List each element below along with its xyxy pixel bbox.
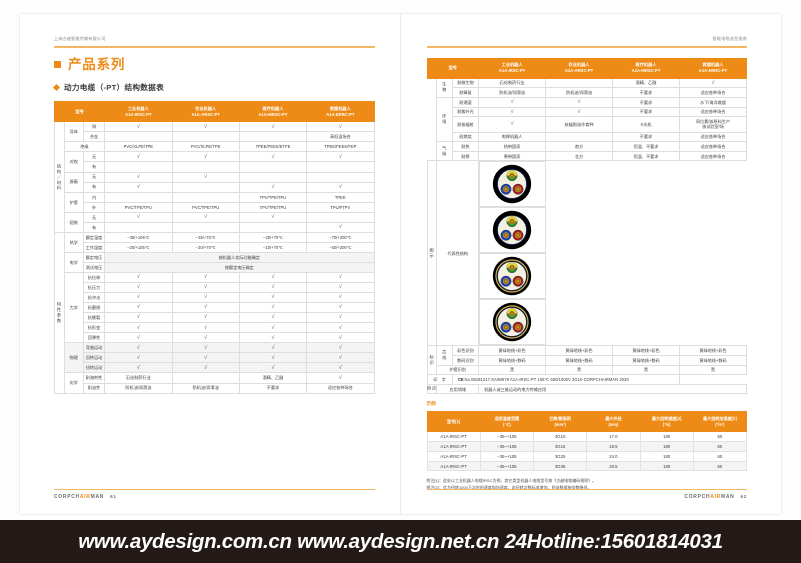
value-cell-4: √ xyxy=(307,323,374,333)
check-icon: √ xyxy=(204,355,207,361)
table-row: 抗冲击√√√√ xyxy=(55,293,375,303)
sub-label: 合金 xyxy=(83,132,104,142)
value-cell-3: √ xyxy=(239,152,306,162)
right-top-rule xyxy=(427,46,748,48)
table-row: 抗磨损√√√√ xyxy=(55,303,375,313)
value-cell-4: √ xyxy=(307,343,374,353)
value-cell-2: −20/+70℃ xyxy=(172,242,239,252)
jacket-marking-value-4: 黑 xyxy=(679,365,746,375)
check-icon: √ xyxy=(137,294,140,300)
example-cell-4: 24.0 xyxy=(587,451,640,461)
value-cell-2: 北方 xyxy=(546,151,613,161)
value-cell-3: √ xyxy=(239,272,306,282)
group-label: 对绞 xyxy=(64,152,83,172)
table-row: 工作温度−20/+105℃−20/+70℃−10/+70℃−50/+200℃ xyxy=(55,242,375,252)
group-label: 力学 xyxy=(64,272,83,342)
value-cell-1: 石化制药行业 xyxy=(479,78,546,88)
marking-value-1: 黄绿地线+数码 xyxy=(479,356,546,366)
section-label-application: 应用 xyxy=(427,384,437,394)
table-row: 电学额定电压按机器人实际功能确定 xyxy=(55,252,375,262)
print-label: 印 字 xyxy=(427,375,452,385)
example-cell-5: 180 xyxy=(640,442,693,452)
value-cell-2: √ xyxy=(172,353,239,363)
marking-sub-label: 数码识别 xyxy=(452,356,478,366)
merged-value: 按额定电压确定 xyxy=(105,262,374,272)
table-row: 耐核辐射√核辐照选作育种X光机同位素/核原料生产核试验室/场 xyxy=(427,117,747,133)
left-page-footer: CORPCHAIRMAN 61 xyxy=(54,489,375,500)
check-icon: √ xyxy=(339,355,342,361)
example-col-header-1: 型号[1] xyxy=(427,412,480,432)
section-label-structure: 结构／材料 xyxy=(55,122,65,233)
example-cell-5: 180 xyxy=(640,461,693,471)
application-label: 应用领域 xyxy=(437,384,479,394)
right-brand-mark: CORPCHAIRMAN xyxy=(684,494,734,500)
footnote-1: 附注[1]：此处以工业机器人电缆IRSC为例，其它类型机器人电缆型号按《古越电缆… xyxy=(427,478,748,485)
value-cell-4 xyxy=(307,212,374,222)
value-cell-2: PVC/XLPE/TPE xyxy=(172,142,239,152)
value-cell-3: 不要求 xyxy=(239,383,306,393)
sub-label: 抗撕裂 xyxy=(83,313,104,323)
check-icon: √ xyxy=(339,294,342,300)
example-cell-6: 60 xyxy=(693,432,746,442)
check-icon: √ xyxy=(204,174,207,180)
left-table-header-row: 型号工业机器人A1A-IRSC-PT农业机器人A1A-ARSC-PT医疗机器人A… xyxy=(55,102,375,122)
right-page-number: 62 xyxy=(740,494,747,499)
example-cell-6: 60 xyxy=(693,451,746,461)
check-icon: √ xyxy=(271,345,274,351)
example-cell-6: 60 xyxy=(693,442,746,452)
structure-data-table: 型号工业机器人A1A-IRSC-PT农业机器人A1A-ARSC-PT医疗机器人A… xyxy=(54,101,375,393)
check-icon: √ xyxy=(204,294,207,300)
example-table-head: 型号[1]适用温度范围(℃)芯数/截面积(mm²)最大外径(mm)最大扭转速度[… xyxy=(427,412,747,432)
jacket-marking-value-2: 黑 xyxy=(546,365,613,375)
sub-label: 工作温度 xyxy=(83,242,104,252)
marking-value-1: 黄绿地线+彩色 xyxy=(479,346,546,356)
value-cell-1: 防机油/润滑油 xyxy=(105,383,172,393)
example-cell-3: 3G35 xyxy=(534,461,587,471)
check-icon: √ xyxy=(204,274,207,280)
marking-value-2: 黄绿地线+彩色 xyxy=(546,346,613,356)
check-icon: √ xyxy=(271,294,274,300)
check-icon: √ xyxy=(137,184,140,190)
example-cell-1: A1A-IRSC-PT xyxy=(427,451,480,461)
value-cell-1 xyxy=(105,192,172,202)
value-cell-4: √ xyxy=(307,303,374,313)
left-running-head: 上海古越智能传输有限公司 xyxy=(54,36,375,44)
value-cell-1: √ xyxy=(479,107,546,117)
value-cell-2 xyxy=(172,182,239,192)
value-cell-2 xyxy=(546,78,613,88)
promo-banner: www.aydesign.com.cn www.aydesign.net.cn … xyxy=(0,520,801,563)
environment-data-table: 型号工业机器人A1A-IRSC-PT农业机器人A1A-ARSC-PT医疗机器人A… xyxy=(427,58,748,395)
sub-label: 额定温度 xyxy=(83,232,104,242)
table-row: 结构／材料导体铜√√√√ xyxy=(55,122,375,132)
right-table-head: 型号工业机器人A1A-IRSC-PT农业机器人A1A-ARSC-PT医疗机器人A… xyxy=(427,58,747,78)
example-cell-5: 180 xyxy=(640,451,693,461)
jacket-marking-value-1: 黑 xyxy=(479,365,546,375)
example-col-header-4: 最大外径(mm) xyxy=(587,412,640,432)
check-icon: √ xyxy=(204,124,207,130)
col-header-3: 医疗机器人A1A-MRSC-PT xyxy=(239,102,306,122)
check-icon: √ xyxy=(339,325,342,331)
value-cell-2 xyxy=(172,192,239,202)
value-cell-2: 防机油/润滑油 xyxy=(546,88,613,98)
example-col-header-2: 适用温度范围(℃) xyxy=(480,412,533,432)
value-cell-2: √ xyxy=(172,122,239,132)
value-cell-3: √ xyxy=(239,182,306,192)
section-label-illustration: 图示 xyxy=(427,161,437,346)
example-col-header-6: 最大扭转加速度[2](°/s²) xyxy=(693,412,746,432)
left-table-head: 型号工业机器人A1A-IRSC-PT农业机器人A1A-ARSC-PT医疗机器人A… xyxy=(55,102,375,122)
sub-label: 回弹性 xyxy=(83,333,104,343)
table-row: 护套内TPV/TPE/TPUTPEE xyxy=(55,192,375,202)
group-label: 热学 xyxy=(64,232,83,252)
group-label: 化学 xyxy=(64,373,83,393)
value-cell-1: −20/+105℃ xyxy=(105,242,172,252)
sub-label: 有 xyxy=(83,182,104,192)
value-cell-3 xyxy=(239,162,306,172)
example-spec-table: 型号[1]适用温度范围(℃)芯数/截面积(mm²)最大外径(mm)最大扭转速度[… xyxy=(427,411,748,471)
value-cell-1: PVC/TPE/TPU xyxy=(105,202,172,212)
sub-label: 耐油性 xyxy=(83,383,104,393)
table-row: 特性参数热学额定温度−35/+105℃−35/+70℃−20/+70℃−70/+… xyxy=(55,232,375,242)
value-cell-3: 不要求 xyxy=(613,132,680,142)
value-cell-3: √ xyxy=(239,353,306,363)
sub-label: 耐寒 xyxy=(452,151,478,161)
table-row: 化学耐溶剂性石化制药行业酒精、乙醚√ xyxy=(55,373,375,383)
sub-label: 抗拉伸 xyxy=(83,272,104,282)
print-value-cell: CE No.08191217.SAIW078 A1A-IRSC-PT 105℃ … xyxy=(452,375,679,385)
value-cell-1: √ xyxy=(105,303,172,313)
check-icon: √ xyxy=(339,224,342,230)
check-icon: √ xyxy=(204,154,207,160)
value-cell-1: √ xyxy=(105,283,172,293)
check-icon: √ xyxy=(204,325,207,331)
value-cell-4: 适应各种场合 xyxy=(679,142,746,152)
value-cell-2: 防机油/润滑油 xyxy=(172,383,239,393)
table-row: 外PVC/TPE/TPUPVC/TPE/TPUTPV/TPE/TPUTPU/FT… xyxy=(55,202,375,212)
value-cell-3: √ xyxy=(239,212,306,222)
value-cell-2: −35/+70℃ xyxy=(172,232,239,242)
example-row: A1A-IRSC-PT−35~+1053G1619.518060 xyxy=(427,442,747,452)
value-cell-3: 恒温、不要求 xyxy=(613,151,680,161)
col-header-2: 农业机器人A1A-ARSC-PT xyxy=(172,102,239,122)
sub-label: 耐热 xyxy=(452,142,478,152)
left-page: 上海古越智能传输有限公司 产品系列 动力电缆（-PT）结构数据表 型号工业机器人… xyxy=(20,14,401,514)
value-cell-3: 恒温、不要求 xyxy=(613,142,680,152)
value-cell-4: 适应各种场合 xyxy=(679,132,746,142)
col-header-model: 型号 xyxy=(55,102,105,122)
check-icon: √ xyxy=(137,325,140,331)
table-row: 测试电压按额定电压确定 xyxy=(55,262,375,272)
check-icon: √ xyxy=(511,99,514,105)
value-cell-1 xyxy=(105,132,172,142)
value-cell-1: √ xyxy=(479,117,546,133)
example-row: A1A-IRSC-PT−35~+1053G1017.018060 xyxy=(427,432,747,442)
example-cell-5: 180 xyxy=(640,432,693,442)
value-cell-4: 水下/海洋救援 xyxy=(679,97,746,107)
col-header-model: 型号 xyxy=(427,58,479,78)
check-icon: √ xyxy=(137,335,140,341)
value-cell-3: √ xyxy=(239,323,306,333)
example-cell-3: 3G25 xyxy=(534,451,587,461)
value-cell-2: √ xyxy=(172,343,239,353)
sub-label: 内 xyxy=(83,192,104,202)
check-icon: √ xyxy=(271,355,274,361)
check-icon: √ xyxy=(339,184,342,190)
value-cell-1: √ xyxy=(105,212,172,222)
value-cell-1 xyxy=(105,162,172,172)
check-icon: √ xyxy=(137,214,140,220)
sub-label: 扭转运动 xyxy=(83,363,104,373)
left-table-body: 结构／材料导体铜√√√√合金高低温场合绝缘PVC/XLPE/TPEPVC/XLP… xyxy=(55,122,375,393)
sub-label: 外 xyxy=(83,202,104,212)
right-running-head: 智能电缆选型指南 xyxy=(427,36,748,44)
example-cell-4: 17.0 xyxy=(587,432,640,442)
table-row: 扭转运动√√√√ xyxy=(55,363,375,373)
check-icon: √ xyxy=(339,335,342,341)
value-cell-2 xyxy=(172,373,239,383)
check-icon: √ xyxy=(137,284,140,290)
example-row: A1A-IRSC-PT−35~+1053G3526.518060 xyxy=(427,461,747,471)
sub-label: 抗压力 xyxy=(83,283,104,293)
section-subtitle-text: 动力电缆（-PT）结构数据表 xyxy=(64,82,164,93)
value-cell-4: √ xyxy=(307,152,374,162)
table-row: 抗形变√√√√ xyxy=(55,323,375,333)
marking-core-label: 芯线 xyxy=(437,346,452,365)
cable-illustration-cell-3 xyxy=(479,253,545,299)
check-icon: √ xyxy=(204,214,207,220)
value-cell-1: √ xyxy=(105,172,172,182)
jacket-marking-row: 护套识别黑黑黑黑 xyxy=(427,365,747,375)
value-cell-3: 酒精、乙醚 xyxy=(613,78,680,88)
sub-label: 抗磨损 xyxy=(83,303,104,313)
check-icon: √ xyxy=(712,80,715,86)
col-header-4: 救援机器人A1A-ERRC-PT xyxy=(679,58,746,78)
sub-label: 铜 xyxy=(83,122,104,132)
check-icon: √ xyxy=(339,304,342,310)
value-cell-3: √ xyxy=(239,313,306,323)
value-cell-4: −50/+200℃ xyxy=(307,242,374,252)
check-icon: √ xyxy=(339,375,342,381)
application-value: 机器人或三维运动的电力传输应用 xyxy=(479,384,747,394)
value-cell-4 xyxy=(307,162,374,172)
col-header-3: 医疗机器人A1A-MRSC-PT xyxy=(613,58,680,78)
check-icon: √ xyxy=(204,304,207,310)
value-cell-4: √ xyxy=(307,333,374,343)
sub-label: 耐潮湿 xyxy=(452,97,478,107)
value-cell-2: 核辐照选作育种 xyxy=(546,117,613,133)
right-table-body: 生物耐微生物石化制药行业酒精、乙醚√耐蟑鼠防机油/润滑油防机油/润滑油不要求适应… xyxy=(427,78,747,394)
value-cell-3: √ xyxy=(239,303,306,313)
example-cell-1: A1A-IRSC-PT xyxy=(427,461,480,471)
table-row: 回弹性√√√√ xyxy=(55,333,375,343)
table-row: 抗压力√√√√ xyxy=(55,283,375,293)
check-icon: √ xyxy=(137,274,140,280)
sub-label: 抗形变 xyxy=(83,323,104,333)
value-cell-2 xyxy=(546,132,613,142)
table-row: 环境耐潮湿√√不要求水下/海洋救援 xyxy=(427,97,747,107)
check-icon: √ xyxy=(271,214,274,220)
ce-mark-icon: CE xyxy=(458,377,464,382)
sub-label: 抗冲击 xyxy=(83,293,104,303)
check-icon: √ xyxy=(137,355,140,361)
check-icon: √ xyxy=(271,154,274,160)
left-brand-mark: CORPCHAIRMAN xyxy=(54,494,104,500)
table-row: 力学抗拉伸√√√√ xyxy=(55,272,375,282)
section-subtitle: 动力电缆（-PT）结构数据表 xyxy=(54,82,375,93)
value-cell-4: √ xyxy=(307,293,374,303)
group-label: 气候 xyxy=(437,142,452,161)
marking-value-3: 黄绿地线+数码 xyxy=(613,356,680,366)
value-cell-2: √ xyxy=(172,293,239,303)
value-cell-2: √ xyxy=(172,172,239,182)
value-cell-2: √ xyxy=(172,313,239,323)
check-icon: √ xyxy=(511,121,514,127)
spacer-cell xyxy=(427,78,437,161)
marking-row: 标识芯线彩色识别黄绿地线+彩色黄绿地线+彩色黄绿地线+彩色黄绿地线+彩色 xyxy=(427,346,747,356)
value-cell-2: √ xyxy=(172,272,239,282)
sub-label: 无 xyxy=(83,172,104,182)
square-bullet-icon xyxy=(54,61,61,68)
value-cell-1: √ xyxy=(105,152,172,162)
check-icon: √ xyxy=(339,365,342,371)
value-cell-3 xyxy=(239,132,306,142)
group-label: 铠装 xyxy=(64,212,83,232)
table-row: 耐燃烧电焊机器人不要求适应各种场合 xyxy=(427,132,747,142)
value-cell-3: −20/+70℃ xyxy=(239,232,306,242)
check-icon: √ xyxy=(204,345,207,351)
group-label: 导体 xyxy=(64,122,83,142)
value-cell-3: √ xyxy=(239,343,306,353)
example-cell-4: 26.5 xyxy=(587,461,640,471)
value-cell-4: √ xyxy=(307,313,374,323)
value-cell-3: 不要求 xyxy=(613,107,680,117)
col-header-1: 工业机器人A1A-IRSC-PT xyxy=(479,58,546,78)
value-cell-1: 防机油/润滑油 xyxy=(479,88,546,98)
value-cell-1: −35/+105℃ xyxy=(105,232,172,242)
table-row: 有√√√ xyxy=(55,182,375,192)
cable-wrap xyxy=(482,256,542,296)
left-page-number: 61 xyxy=(110,494,117,499)
sub-label: 测试电压 xyxy=(83,262,104,272)
sub-label: 耐蟑鼠 xyxy=(452,88,478,98)
value-cell-2: PVC/TPE/TPU xyxy=(172,202,239,212)
promo-banner-text: www.aydesign.com.cn www.aydesign.net.cn … xyxy=(78,530,722,554)
check-icon: √ xyxy=(137,314,140,320)
table-row: 生物耐微生物石化制药行业酒精、乙醚√ xyxy=(427,78,747,88)
sub-label: 弯曲运动 xyxy=(83,343,104,353)
marking-value-4: 黄绿地线+数码 xyxy=(679,356,746,366)
check-icon: √ xyxy=(271,314,274,320)
check-icon: √ xyxy=(339,124,342,130)
sub-label: 耐微生物 xyxy=(452,78,478,88)
table-row: 抗撕裂√√√√ xyxy=(55,313,375,323)
group-label: 护套 xyxy=(64,192,83,212)
jacket-marking-label: 护套识别 xyxy=(437,365,479,375)
application-row: 应用应用领域机器人或三维运动的电力传输应用 xyxy=(427,384,747,394)
check-icon: √ xyxy=(339,284,342,290)
table-row: 绝缘PVC/XLPE/TPEPVC/XLPE/TPETPEE/PEEK/ETFE… xyxy=(55,142,375,152)
value-cell-1: √ xyxy=(105,293,172,303)
group-label: 生物 xyxy=(437,78,452,97)
sub-label: 有 xyxy=(83,162,104,172)
right-page-footer: CORPCHAIRMAN 62 xyxy=(427,489,748,500)
left-footer-rule xyxy=(54,489,375,490)
check-icon: √ xyxy=(271,184,274,190)
value-cell-3: TPEE/PEEK/ETFE xyxy=(239,142,306,152)
example-label: 示例 xyxy=(427,401,748,407)
value-cell-4: TPEE xyxy=(307,192,374,202)
value-cell-3: −10/+70℃ xyxy=(239,242,306,252)
value-cell-2: √ xyxy=(172,303,239,313)
value-cell-4: 适应各种场合 xyxy=(679,88,746,98)
value-cell-2: 南方 xyxy=(546,142,613,152)
check-icon: √ xyxy=(271,304,274,310)
value-cell-4: √ xyxy=(307,283,374,293)
value-cell-2: √ xyxy=(172,283,239,293)
col-header-2: 农业机器人A1A-ARSC-PT xyxy=(546,58,613,78)
value-cell-1: √ xyxy=(105,353,172,363)
value-cell-1: √ xyxy=(105,323,172,333)
check-icon: √ xyxy=(271,274,274,280)
illustration-label: 代表性结构 xyxy=(437,161,479,346)
example-cell-6: 60 xyxy=(693,461,746,471)
value-cell-4: TPEE/PEEK/FEP xyxy=(307,142,374,152)
cable-illustration-cell-2 xyxy=(479,207,545,253)
value-cell-2: √ xyxy=(172,152,239,162)
check-icon: √ xyxy=(137,365,140,371)
value-cell-4: √ xyxy=(307,373,374,383)
cable-cross-section-icon xyxy=(492,210,532,250)
group-label: 绝缘 xyxy=(64,142,105,152)
check-icon: √ xyxy=(204,365,207,371)
value-cell-4 xyxy=(307,172,374,182)
marking-value-3: 黄绿地线+彩色 xyxy=(613,346,680,356)
check-icon: √ xyxy=(204,335,207,341)
value-cell-3: X光机 xyxy=(613,117,680,133)
table-row: 有 xyxy=(55,162,375,172)
value-cell-4: √ xyxy=(307,222,374,232)
value-cell-4: 高低温场合 xyxy=(307,132,374,142)
marking-value-2: 黄绿地线+数码 xyxy=(546,356,613,366)
group-label: 电学 xyxy=(64,252,83,272)
example-cell-1: A1A-IRSC-PT xyxy=(427,442,480,452)
value-cell-3: √ xyxy=(239,122,306,132)
brochure-spread: 上海古越智能传输有限公司 产品系列 动力电缆（-PT）结构数据表 型号工业机器人… xyxy=(20,14,781,514)
value-cell-1: PVC/XLPE/TPE xyxy=(105,142,172,152)
check-icon: √ xyxy=(271,365,274,371)
sub-label: 回转运动 xyxy=(83,353,104,363)
print-row: 印 字CE No.08191217.SAIW078 A1A-IRSC-PT 10… xyxy=(427,375,747,385)
cable-illustration-cell-1 xyxy=(479,161,545,207)
sub-label: 耐溶剂性 xyxy=(83,373,104,383)
sub-label: 无 xyxy=(83,212,104,222)
check-icon: √ xyxy=(271,325,274,331)
marking-value-4: 黄绿地线+彩色 xyxy=(679,346,746,356)
cable-cross-section-icon xyxy=(492,302,532,342)
value-cell-2: √ xyxy=(172,212,239,222)
value-cell-4: √ xyxy=(307,272,374,282)
example-col-header-3: 芯数/截面积(mm²) xyxy=(534,412,587,432)
check-icon: √ xyxy=(339,274,342,280)
value-cell-4: √ xyxy=(307,182,374,192)
value-cell-4: TPU/FTPV xyxy=(307,202,374,212)
check-icon: √ xyxy=(204,314,207,320)
value-cell-4: 适应各种场合 xyxy=(679,107,746,117)
example-cell-2: −35~+105 xyxy=(480,451,533,461)
check-icon: √ xyxy=(204,284,207,290)
